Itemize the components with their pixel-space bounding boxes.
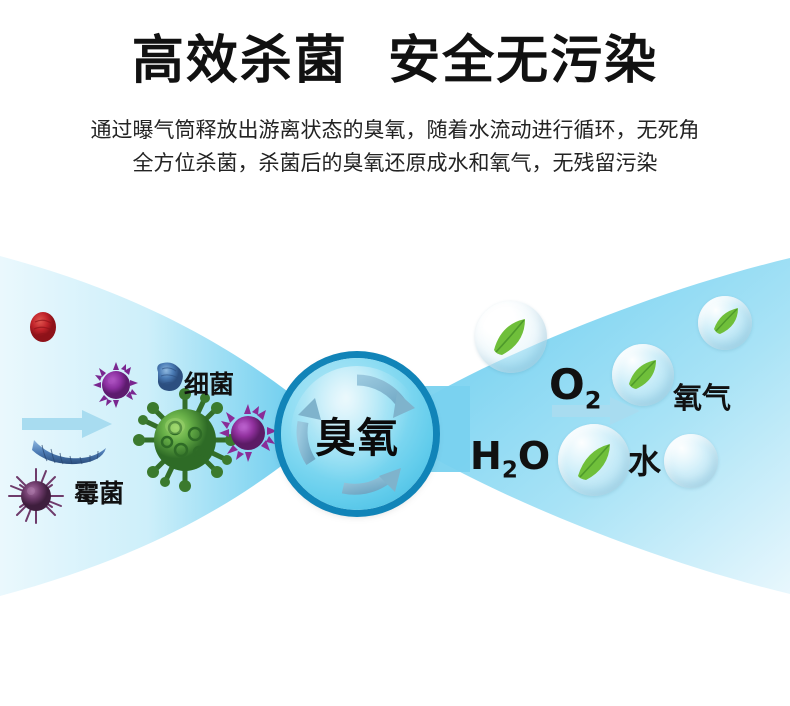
bubble-leaf-left-large [475, 301, 547, 373]
germ-red-icon [28, 310, 58, 344]
subtitle-line-2: 全方位杀菌，杀菌后的臭氧还原成水和氧气，无残留污染 [12, 147, 778, 180]
leaf-icon [698, 296, 752, 350]
label-mold: 霉菌 [74, 474, 124, 510]
h2o-h: H [470, 434, 502, 478]
o2-main: O [549, 360, 585, 409]
germ-plum-spiky-icon [8, 468, 64, 524]
bubble-leaf-bottom [558, 424, 630, 496]
label-water: 水 [628, 435, 661, 483]
label-o2: O2 [549, 360, 601, 414]
promo-page: 高效杀菌 安全无污染 通过曝气筒释放出游离状态的臭氧，随着水流动进行循环，无死角… [0, 0, 790, 706]
label-bacteria: 细菌 [184, 365, 234, 401]
leaf-icon [475, 301, 547, 373]
bubble-plain [664, 434, 718, 488]
label-oxygen: 氧气 [673, 375, 731, 417]
flow-arrow-left-icon [22, 409, 112, 439]
page-title: 高效杀菌 安全无污染 [0, 30, 790, 92]
ozone-label: 臭氧 [281, 358, 433, 510]
page-subtitle: 通过曝气筒释放出游离状态的臭氧，随着水流动进行循环，无死角 全方位杀菌，杀菌后的… [0, 114, 790, 180]
o2-sub: 2 [585, 386, 602, 414]
h2o-o: O [518, 434, 550, 478]
h2o-sub: 2 [502, 458, 518, 484]
ozone-diagram: 细菌 霉菌 臭氧 [0, 236, 790, 636]
subtitle-line-1: 通过曝气筒释放出游离状态的臭氧，随着水流动进行循环，无死角 [12, 114, 778, 147]
leaf-icon [558, 424, 630, 496]
label-h2o: H2O [470, 434, 550, 484]
germ-purple-spiky-2-icon [219, 404, 277, 462]
bubble-leaf-top-right [698, 296, 752, 350]
